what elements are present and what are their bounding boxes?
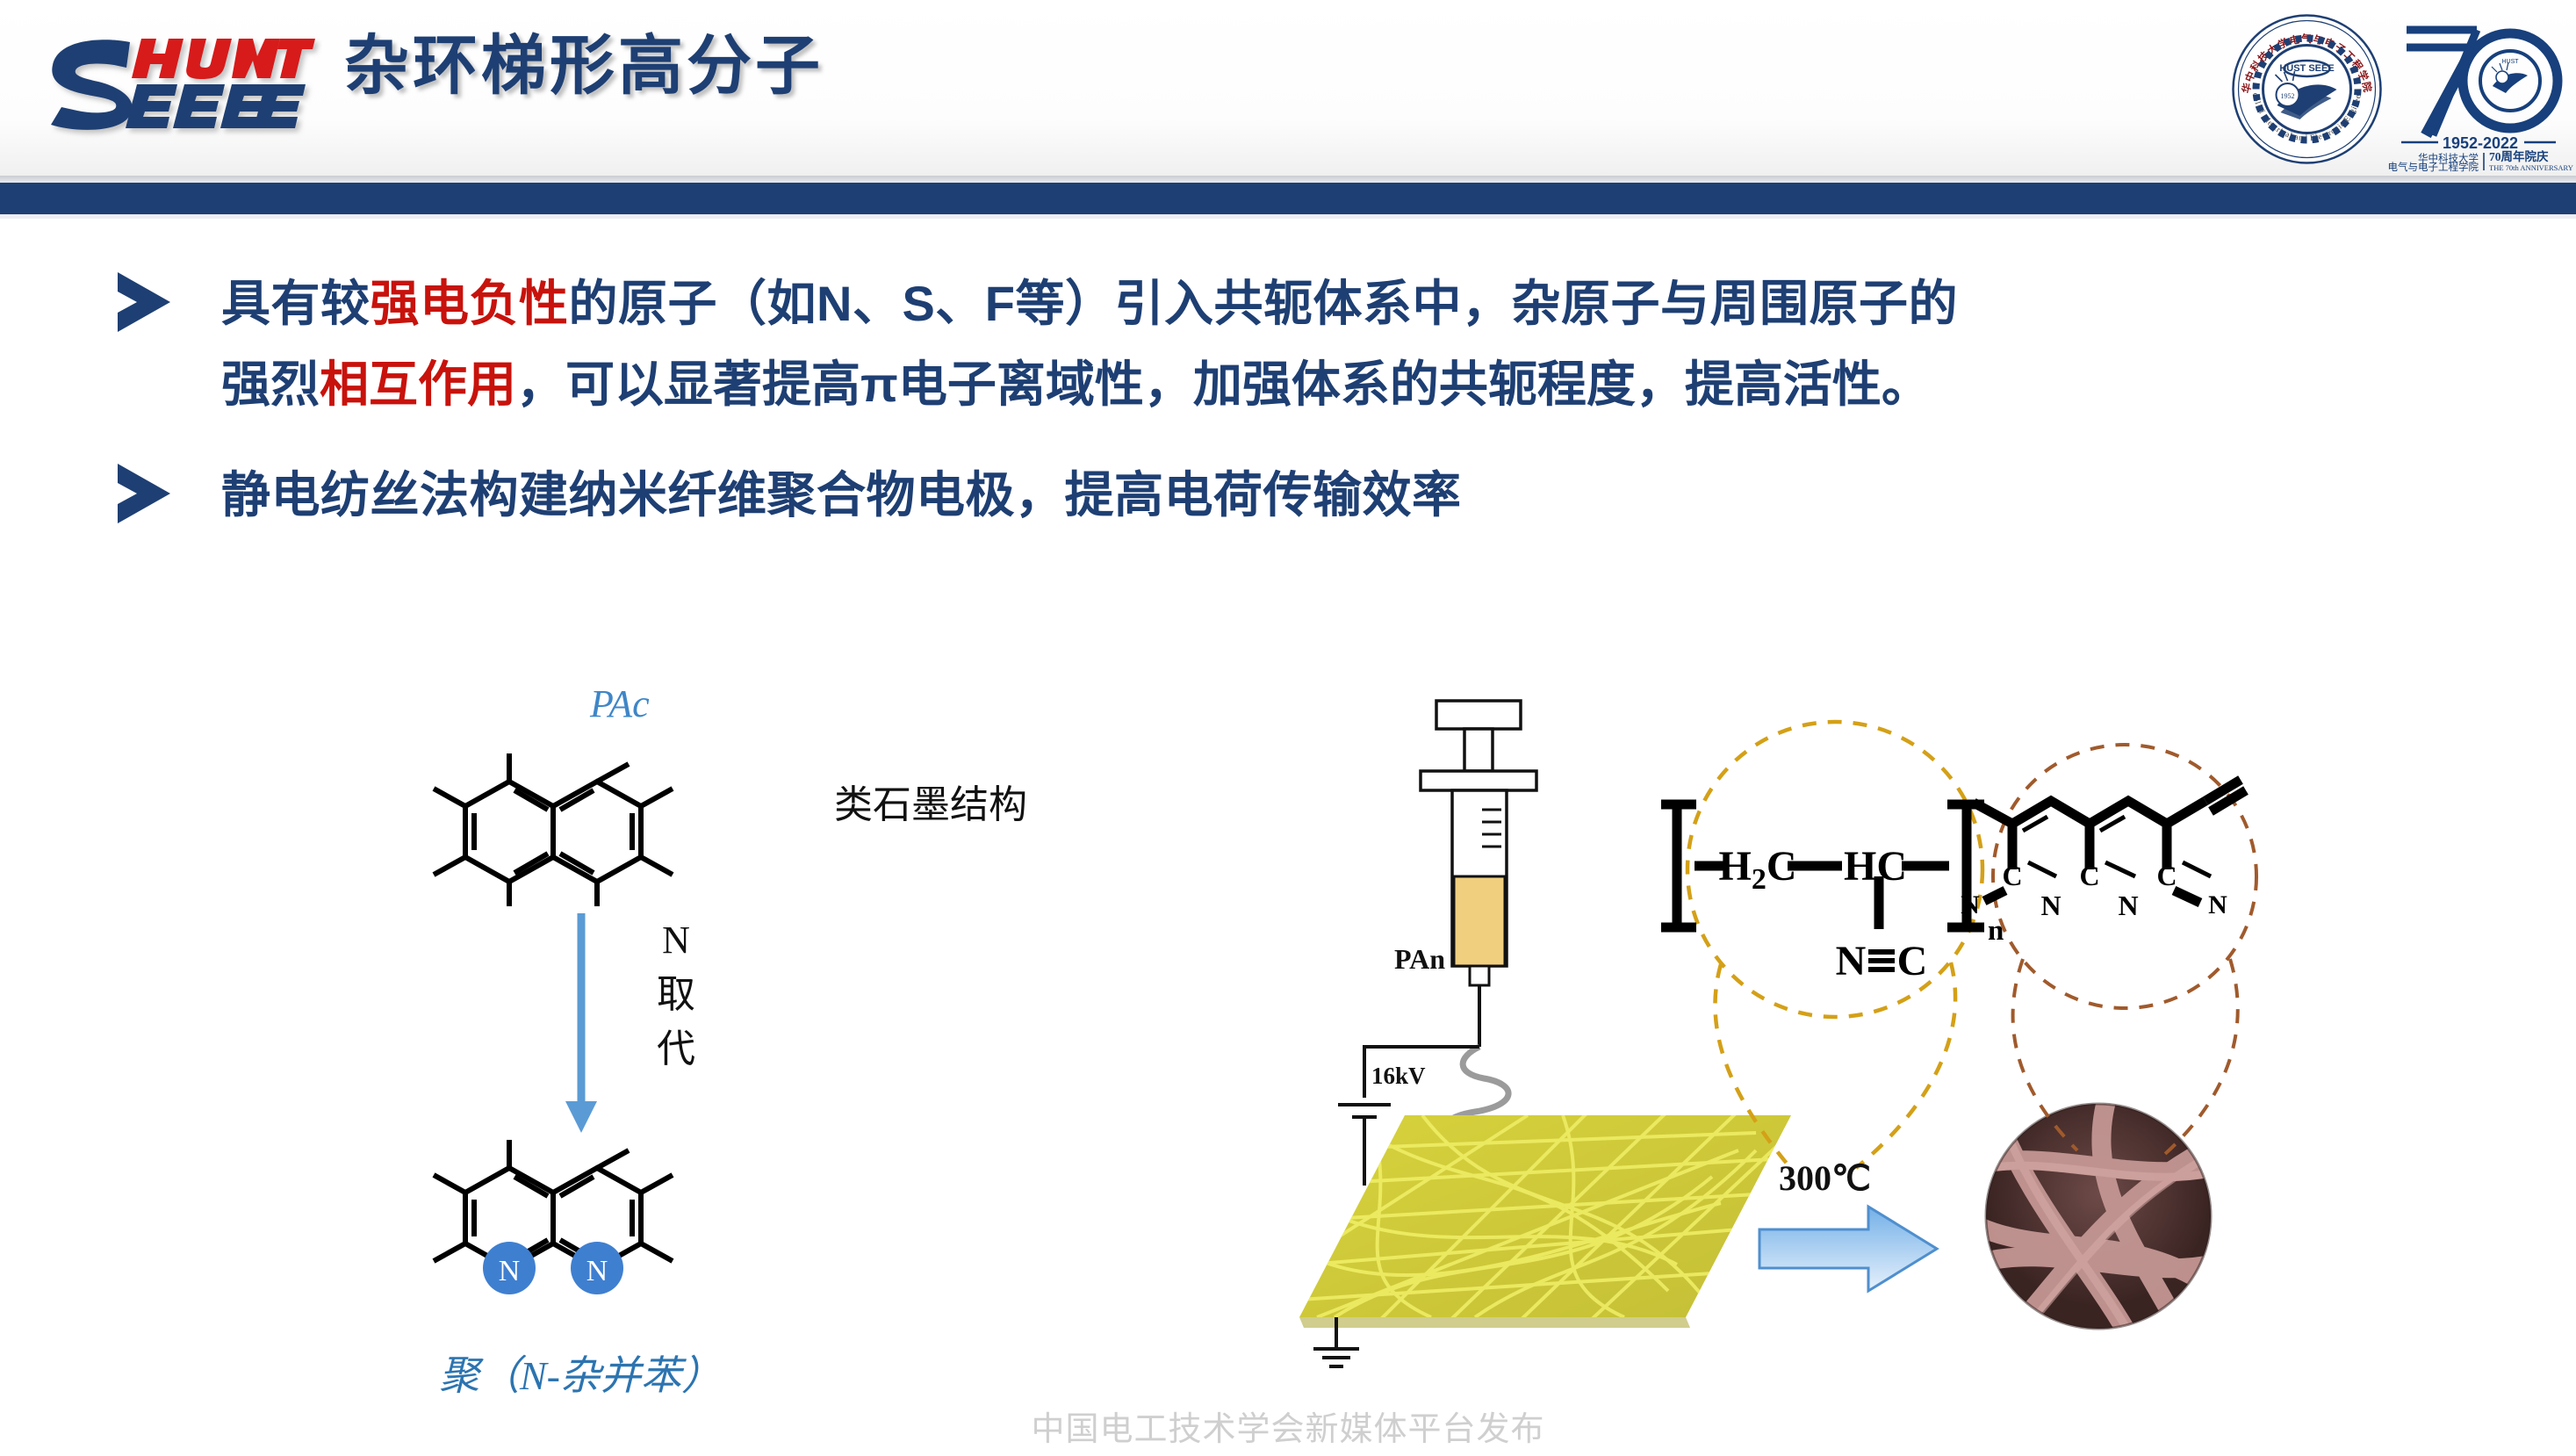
pan-label: PAn — [1394, 943, 1445, 976]
bullet-2-l1-a: 静电纺丝法构建纳米纤维聚合物电极，提高电荷传输效率 — [221, 467, 1462, 523]
svg-text:电气与电子工程学院: 电气与电子工程学院 — [2388, 161, 2479, 173]
voltage-label: 16kV — [1371, 1063, 1426, 1090]
syringe-icon — [1421, 701, 1536, 1047]
pac-label: PAc — [590, 681, 650, 726]
nitrogen-badge-right-label: N — [586, 1255, 608, 1287]
school-seal-icon: 华中科技大学电气与电子工程学院 School of Electrical and… — [2230, 12, 2384, 166]
bullet-2-line-1: 静电纺丝法构建纳米纤维聚合物电极，提高电荷传输效率 — [221, 455, 1462, 536]
substitution-label-qu: 取 — [650, 968, 702, 1022]
svg-text:HUST SEEE: HUST SEEE — [2279, 63, 2334, 74]
bullet-1-l2-b: ，可以显著提高π电子离域性，加强体系的共轭程度，提高活性。 — [516, 357, 1931, 412]
bullet-1-l2-a: 强烈 — [221, 357, 320, 412]
substitution-label-n: N — [650, 913, 702, 968]
chevron-bullet-icon — [112, 269, 197, 335]
poly-n-heteroacene-label: 聚（N-杂并苯） — [439, 1344, 722, 1402]
header-accent-bar — [0, 183, 2576, 214]
watermark-text: 中国电工技术学会新媒体平台发布 — [0, 1402, 2576, 1450]
ladder-n-right: N — [2208, 890, 2227, 919]
svg-text:C: C — [1897, 938, 1928, 984]
naphthyridine-structure: N N — [457, 1142, 808, 1370]
bullet-1-line-1: 具有较强电负性的原子（如N、S、F等）引入共轭体系中，杂原子与周围原子的 — [221, 263, 1958, 344]
temperature-label: 300℃ — [1779, 1157, 1871, 1199]
bullet-1-l1-a: 具有较 — [221, 276, 371, 331]
page-title: 杂环梯形高分子 — [344, 33, 824, 98]
svg-text:N: N — [1836, 938, 1867, 984]
ladder-c-2: C — [2079, 860, 2099, 891]
substitution-label: N 取 代 — [650, 913, 702, 1077]
anniversary-years: 1952-2022 — [2443, 134, 2518, 152]
bullet-1-l2-highlight: 相互作用 — [320, 357, 516, 412]
ladder-polymer-callout: C C C N N N N — [1932, 729, 2388, 1186]
ladder-polymer-structure: C C C N N N N — [1961, 780, 2246, 921]
ladder-n-left: N — [1961, 890, 1980, 919]
nitrogen-badge-left-label: N — [499, 1255, 521, 1287]
slide-root: 杂环梯形高分子 华中科技大学电气与电子工程学院 School of Electr… — [0, 0, 2576, 1456]
bullet-1-l1-b: 的原子（如N、S、F等）引入共轭体系中，杂原子与周围原子的 — [569, 276, 1959, 331]
pan-unit-right-label: HC — [1844, 843, 1907, 890]
ladder-c-3: C — [2156, 860, 2177, 891]
ladder-n-2: N — [2118, 890, 2138, 921]
svg-text:THE 70th ANNIVERSARY: THE 70th ANNIVERSARY — [2489, 163, 2573, 172]
anniversary-logo: HUST 1952-2022 华中科技大学 电气与电子工程学院 70周年院庆 T… — [2393, 12, 2564, 170]
naphthalene-structure — [457, 755, 808, 975]
heat-treatment-arrow-icon — [1756, 1203, 1949, 1300]
chevron-bullet-icon-2 — [112, 460, 197, 527]
ladder-c-1: C — [2002, 860, 2022, 891]
ladder-n-1: N — [2040, 890, 2061, 921]
header-rule — [0, 176, 2576, 183]
seee-logo — [42, 30, 297, 126]
substitution-arrow-icon — [562, 913, 615, 1142]
bullet-list: 具有较强电负性的原子（如N、S、F等）引入共轭体系中，杂原子与周围原子的 强烈相… — [0, 263, 2576, 536]
bullet-1-line-2: 强烈相互作用，可以显著提高π电子离域性，加强体系的共轭程度，提高活性。 — [221, 344, 2576, 425]
svg-text:1952: 1952 — [2281, 92, 2295, 100]
header-accent-bar-shadow — [0, 214, 2576, 219]
graphite-structure-label: 类石墨结构 — [834, 773, 1027, 829]
bullet-item-2: 静电纺丝法构建纳米纤维聚合物电极，提高电荷传输效率 — [0, 455, 2576, 536]
substitution-label-dai: 代 — [650, 1022, 702, 1077]
bullet-1-l1-highlight: 强电负性 — [371, 276, 569, 331]
svg-text:70周年院庆: 70周年院庆 — [2489, 149, 2549, 163]
pan-unit-left-label: H2C — [1718, 843, 1796, 896]
svg-text:HUST: HUST — [2501, 59, 2519, 65]
bullet-item-1: 具有较强电负性的原子（如N、S、F等）引入共轭体系中，杂原子与周围原子的 — [0, 263, 2576, 344]
nitrile-group: N C — [1836, 938, 1928, 984]
